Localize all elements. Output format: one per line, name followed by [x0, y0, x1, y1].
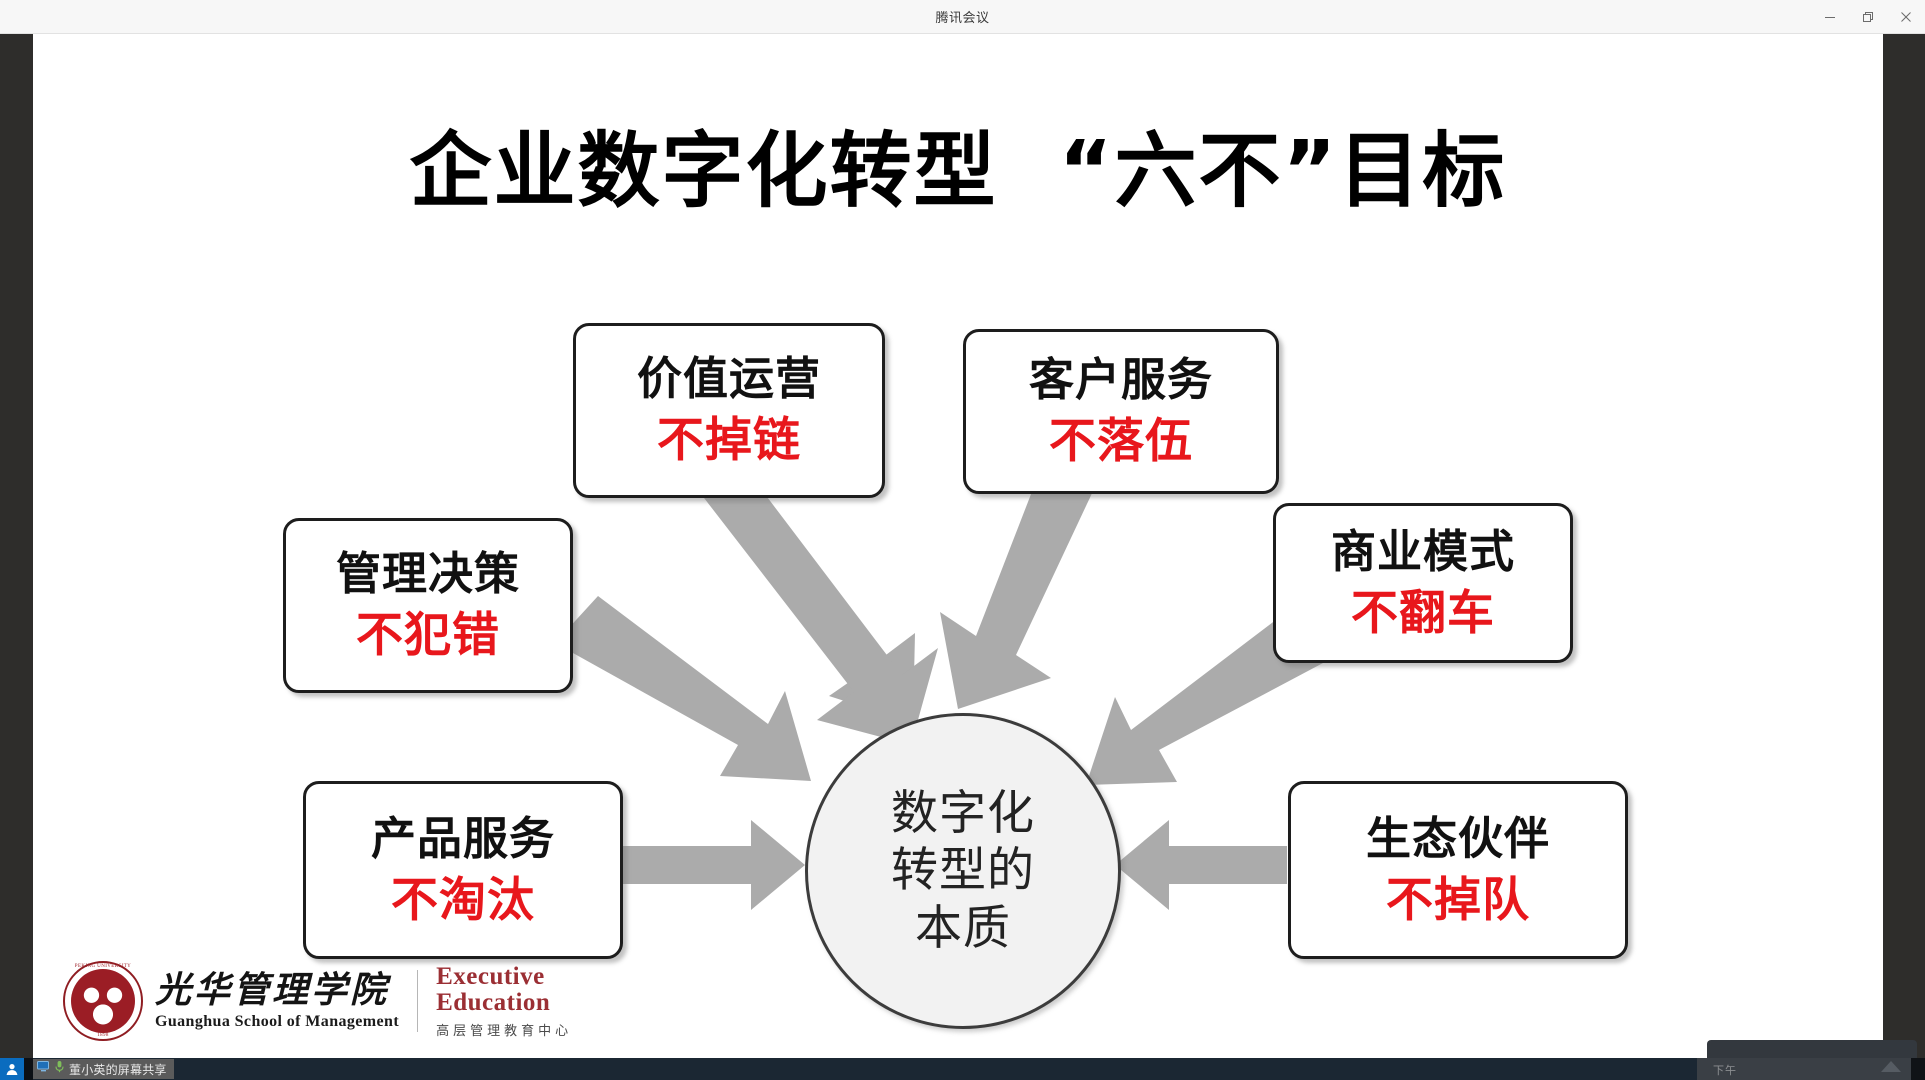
node-title: 商业模式 — [1331, 528, 1515, 575]
window-title: 腾讯会议 — [935, 7, 989, 26]
node-product-service[interactable]: 产品服务 不淘汰 — [303, 781, 623, 959]
node-slogan: 不淘汰 — [391, 876, 535, 925]
guanghua-logo: PEKING UNIVERSITY 1898 光华管理学院 Guanghua S… — [63, 958, 572, 1044]
program-line-1: Executive — [436, 964, 572, 990]
hub-line-3: 本质 — [915, 900, 1011, 957]
windows-taskbar: 董小英的屏幕共享 下午 — [0, 1058, 1925, 1080]
minimize-button[interactable] — [1811, 0, 1849, 33]
window-controls — [1811, 0, 1925, 33]
node-eco-partner[interactable]: 生态伙伴 不掉队 — [1288, 781, 1628, 959]
monitor-icon — [37, 1060, 50, 1078]
node-management-decision[interactable]: 管理决策 不犯错 — [283, 518, 573, 693]
school-name-cn: 光华管理学院 — [155, 971, 399, 1011]
node-title: 价值运营 — [637, 355, 821, 402]
program-name-cn: 高层管理教育中心 — [436, 1020, 572, 1039]
node-slogan: 不翻车 — [1351, 589, 1495, 638]
school-name-en: Guanghua School of Management — [155, 1013, 399, 1031]
node-slogan: 不掉链 — [657, 416, 801, 465]
taskbar-right-edge — [1911, 1058, 1925, 1080]
microphone-icon — [54, 1060, 65, 1078]
executive-education-block: Executive Education 高层管理教育中心 — [436, 964, 572, 1039]
node-slogan: 不犯错 — [356, 611, 500, 660]
program-line-2: Education — [436, 990, 572, 1016]
logo-divider — [417, 970, 418, 1032]
restore-button[interactable] — [1849, 0, 1887, 33]
peking-university-seal-icon: PEKING UNIVERSITY 1898 — [63, 961, 143, 1041]
tray-clock[interactable]: 下午 — [1713, 1062, 1737, 1078]
node-title: 客户服务 — [1029, 356, 1213, 403]
start-button[interactable] — [0, 1058, 24, 1080]
seal-top-text: PEKING UNIVERSITY — [65, 964, 141, 969]
node-title: 生态伙伴 — [1366, 815, 1550, 862]
node-slogan: 不落伍 — [1049, 417, 1193, 466]
arrow-product-service — [623, 820, 805, 910]
hub-line-2: 转型的 — [891, 842, 1035, 899]
taskbar-item-screen-share[interactable]: 董小英的屏幕共享 — [33, 1059, 174, 1079]
school-name-block: 光华管理学院 Guanghua School of Management — [155, 971, 399, 1031]
node-title: 管理决策 — [336, 550, 520, 597]
node-business-model[interactable]: 商业模式 不翻车 — [1273, 503, 1573, 663]
arrow-customer-service — [940, 489, 1094, 709]
seal-bottom-text: 1898 — [65, 1033, 141, 1038]
taskbar-item-label: 董小英的屏幕共享 — [69, 1061, 167, 1078]
tray-expand-icon[interactable] — [1881, 1061, 1901, 1072]
node-title: 产品服务 — [371, 815, 555, 862]
taskbar-gap — [24, 1058, 33, 1080]
arrow-management-decision — [555, 596, 811, 781]
node-customer-service[interactable]: 客户服务 不落伍 — [963, 329, 1279, 494]
window-titlebar: 腾讯会议 — [0, 0, 1925, 34]
taskbar-system-tray[interactable]: 下午 — [1697, 1058, 1925, 1080]
arrow-eco-partner — [1115, 820, 1287, 910]
screen-share-stage: 企业数字化转型 “六不”目标 — [0, 33, 1925, 1058]
hub-line-1: 数字化 — [891, 785, 1035, 842]
presentation-slide: 企业数字化转型 “六不”目标 — [33, 33, 1883, 1058]
floating-meeting-panel[interactable] — [1707, 1040, 1917, 1058]
hub-circle[interactable]: 数字化 转型的 本质 — [805, 713, 1121, 1029]
node-value-operation[interactable]: 价值运营 不掉链 — [573, 323, 885, 498]
close-button[interactable] — [1887, 0, 1925, 33]
node-slogan: 不掉队 — [1386, 876, 1530, 925]
six-no-diagram: 价值运营 不掉链 客户服务 不落伍 管理决策 不犯错 商业模式 不翻车 产品服务 — [33, 33, 1883, 1058]
